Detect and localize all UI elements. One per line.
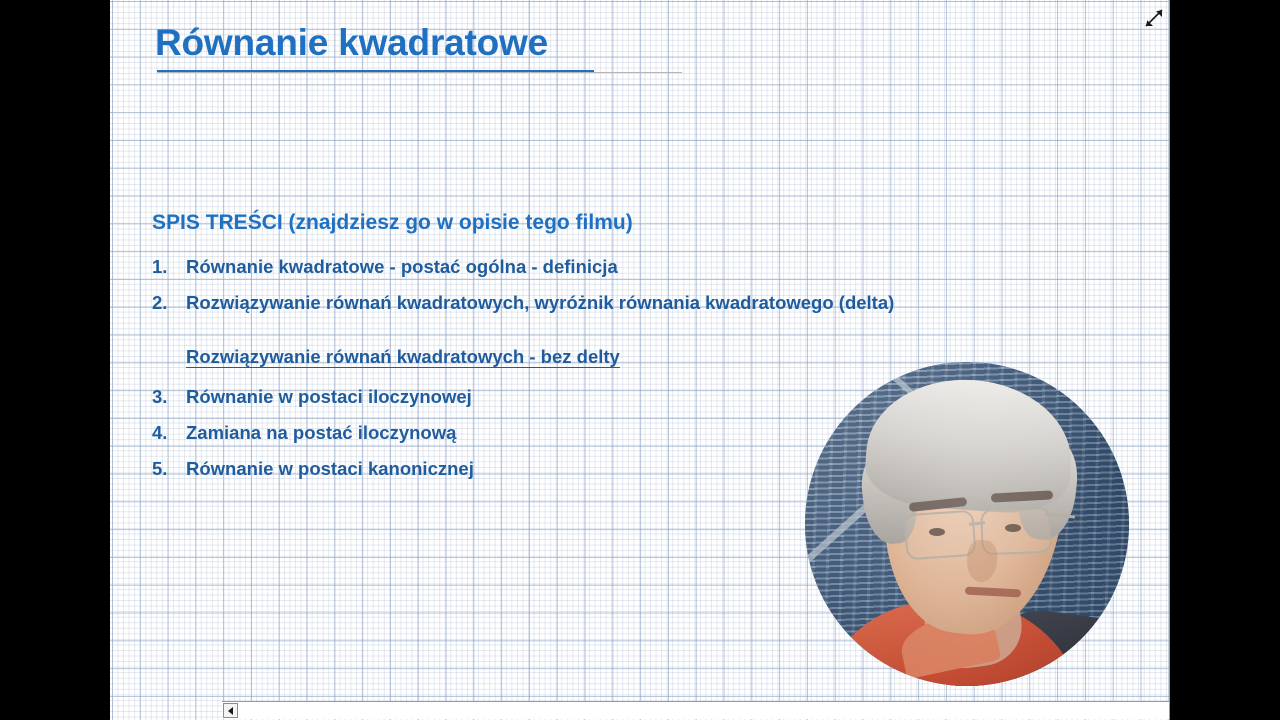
horizontal-scrollbar[interactable]	[222, 701, 1170, 719]
list-item-label: Równanie w postaci kanonicznej	[186, 451, 474, 487]
letterbox-left	[0, 0, 110, 720]
list-item-label: Zamiana na postać iloczynową	[186, 415, 456, 451]
avatar-vignette	[805, 362, 1129, 686]
list-item-number: 1.	[152, 249, 186, 285]
title-block: Równanie kwadratowe	[155, 20, 695, 66]
list-item-number: 2.	[152, 285, 186, 321]
letterbox-right	[1170, 0, 1280, 720]
horizontal-scrollbar-track[interactable]	[240, 703, 1170, 718]
list-subheading-label: Rozwiązywanie równań kwadratowych - bez …	[186, 339, 620, 375]
presenter-avatar	[805, 362, 1129, 686]
document-canvas: Równanie kwadratowe SPIS TREŚCI (znajdzi…	[110, 0, 1170, 720]
page-title: Równanie kwadratowe	[155, 20, 695, 66]
resize-handle[interactable]	[1142, 6, 1166, 30]
diagonal-resize-arrow-icon	[1142, 6, 1166, 30]
scroll-left-arrow-icon	[228, 707, 233, 715]
list-item-label: Rozwiązywanie równań kwadratowych, wyróż…	[186, 285, 894, 321]
avatar-photo	[805, 362, 1129, 686]
list-item-number: 4.	[152, 415, 186, 451]
list-item-number: 3.	[152, 379, 186, 415]
list-item-label: Równanie kwadratowe - postać ogólna - de…	[186, 249, 618, 285]
scroll-left-button[interactable]	[223, 703, 238, 718]
video-frame: Równanie kwadratowe SPIS TREŚCI (znajdzi…	[0, 0, 1280, 720]
toc-heading: SPIS TREŚCI (znajdziesz go w opisie tego…	[152, 207, 1112, 239]
title-underline-grey	[157, 72, 682, 73]
list-item-label: Równanie w postaci iloczynowej	[186, 379, 472, 415]
list-item: 1. Równanie kwadratowe - postać ogólna -…	[152, 249, 1112, 285]
list-item: 2. Rozwiązywanie równań kwadratowych, wy…	[152, 285, 1112, 321]
list-item-number: 5.	[152, 451, 186, 487]
